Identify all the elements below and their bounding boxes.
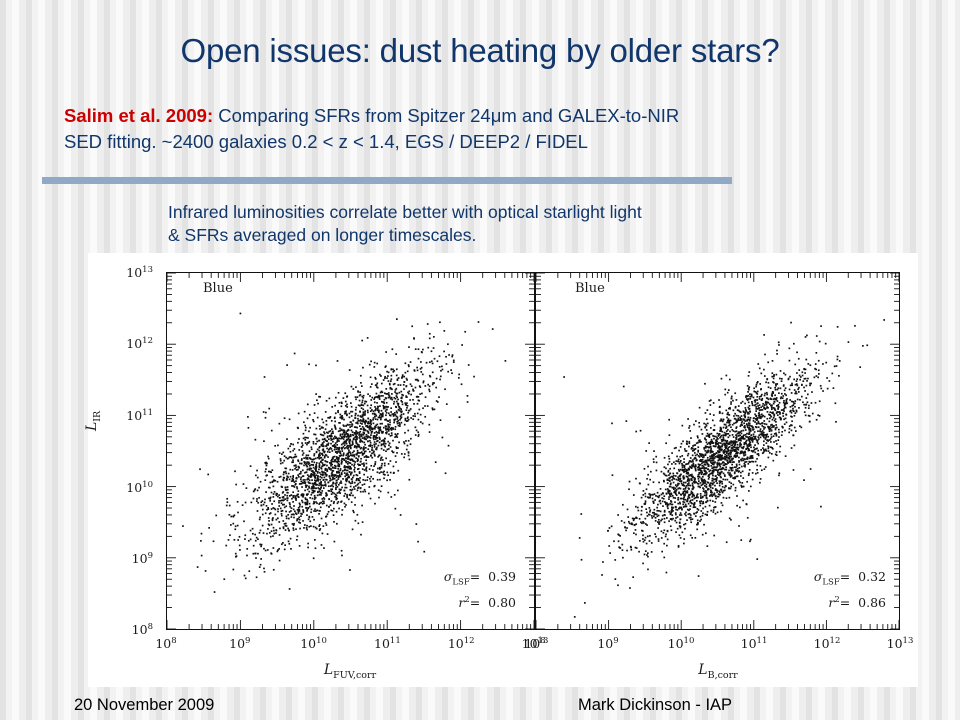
caption-block: Infrared luminosities correlate better w… bbox=[168, 201, 908, 247]
y-tick-exp: 8 bbox=[148, 622, 153, 632]
x-tick-label: 1013 bbox=[887, 636, 914, 651]
subtitle-block: Salim et al. 2009: Comparing SFRs from S… bbox=[64, 103, 894, 155]
x-tick-label: 109 bbox=[597, 636, 618, 651]
subtitle-line-1: Comparing SFRs from Spitzer 24μm and GAL… bbox=[213, 105, 679, 126]
rsq-row-left: r2= 0.80 bbox=[356, 592, 516, 611]
x-tick-label: 1010 bbox=[668, 636, 695, 651]
panel-label-left: Blue bbox=[203, 281, 233, 296]
y-tick-exp: 10 bbox=[142, 480, 153, 490]
rsq-value: 0.80 bbox=[488, 595, 516, 610]
stats-annotation-right: σLSF= 0.32 r2= 0.86 bbox=[726, 568, 886, 611]
y-axis-title-sub: IR bbox=[92, 411, 103, 422]
y-tick-label: 1012 bbox=[88, 336, 160, 351]
subtitle-line-2: SED fitting. ~2400 galaxies 0.2 < z < 1.… bbox=[64, 131, 588, 152]
rsq-value: 0.86 bbox=[858, 595, 886, 610]
page-title: Open issues: dust heating by older stars… bbox=[0, 32, 960, 70]
x-tick-label: 108 bbox=[155, 636, 176, 651]
x-tick-label: 1012 bbox=[448, 636, 475, 651]
y-tick-exp: 13 bbox=[142, 265, 153, 275]
x-tick-label: 1010 bbox=[300, 636, 327, 651]
x-tick-label: 1011 bbox=[741, 636, 768, 651]
x-tick-label: 109 bbox=[229, 636, 250, 651]
panel-label-right: Blue bbox=[575, 281, 605, 296]
x-axis-title-sub: B,corr bbox=[708, 670, 738, 681]
citation-label: Salim et al. 2009: bbox=[64, 105, 213, 126]
x-axis-title-left: LFUV,corr bbox=[324, 662, 376, 681]
y-axis-title: LIR bbox=[84, 411, 103, 431]
y-tick-exp: 9 bbox=[148, 551, 153, 561]
rsq-sup: 2 bbox=[464, 595, 469, 605]
rsq-sup: 2 bbox=[834, 595, 839, 605]
y-tick-label: 108 bbox=[88, 622, 160, 637]
sigma-sub: LSF bbox=[822, 578, 839, 588]
rsq-row-right: r2= 0.86 bbox=[726, 592, 886, 611]
y-tick-label: 1010 bbox=[88, 480, 160, 495]
y-tick-label: 109 bbox=[88, 551, 160, 566]
y-tick-label: 1013 bbox=[88, 265, 160, 280]
x-tick-label: 108 bbox=[524, 636, 545, 651]
sigma-sub: LSF bbox=[452, 578, 469, 588]
y-tick-exp: 11 bbox=[142, 408, 153, 418]
footer-date: 20 November 2009 bbox=[74, 696, 214, 715]
divider-bar bbox=[42, 177, 732, 184]
footer-author: Mark Dickinson - IAP bbox=[578, 696, 732, 715]
sigma-value: 0.39 bbox=[488, 569, 516, 584]
x-axis-title-right: LB,corr bbox=[698, 662, 737, 681]
sigma-value: 0.32 bbox=[858, 569, 886, 584]
caption-line-2: & SFRs averaged on longer timescales. bbox=[168, 225, 476, 245]
sigma-row-left: σLSF= 0.39 bbox=[356, 568, 516, 592]
caption-line-1: Infrared luminosities correlate better w… bbox=[168, 202, 642, 222]
slide-canvas: Open issues: dust heating by older stars… bbox=[0, 0, 960, 720]
x-axis-title-sub: FUV,corr bbox=[333, 670, 376, 681]
stats-annotation-left: σLSF= 0.39 r2= 0.80 bbox=[356, 568, 516, 611]
figure-panel: 1013 1012 1011 1010 109 108 LIR Blue Blu… bbox=[88, 253, 918, 687]
x-tick-label: 1012 bbox=[814, 636, 841, 651]
sigma-row-right: σLSF= 0.32 bbox=[726, 568, 886, 592]
x-tick-label: 1011 bbox=[374, 636, 401, 651]
y-tick-exp: 12 bbox=[142, 336, 153, 346]
